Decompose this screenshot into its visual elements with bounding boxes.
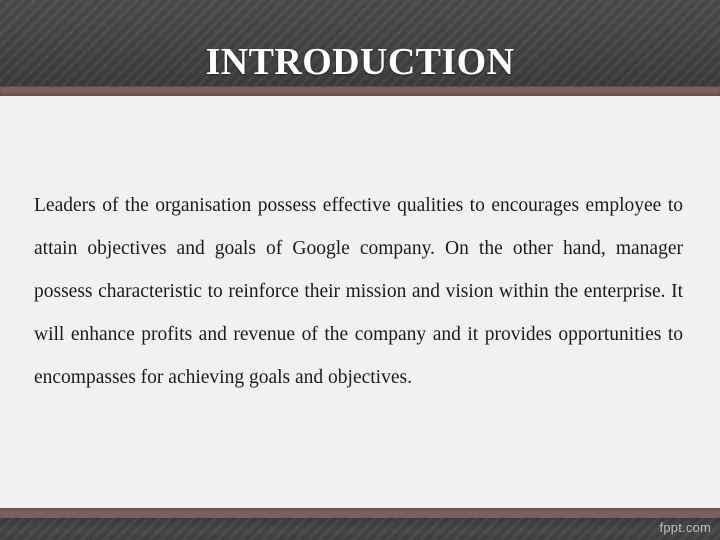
slide-header-band: INTRODUCTION [0,0,720,86]
watermark-label: fppt.com [660,520,711,535]
page-title: INTRODUCTION [0,0,720,86]
header-accent-divider [0,86,720,96]
slide-footer-band: fppt.com [0,518,720,540]
presentation-slide: INTRODUCTION Leaders of the organisation… [0,0,720,540]
footer-gradient-overlay [0,518,720,540]
body-paragraph: Leaders of the organisation possess effe… [34,184,683,399]
footer-accent-divider [0,508,720,518]
slide-content-area: Leaders of the organisation possess effe… [0,96,720,508]
